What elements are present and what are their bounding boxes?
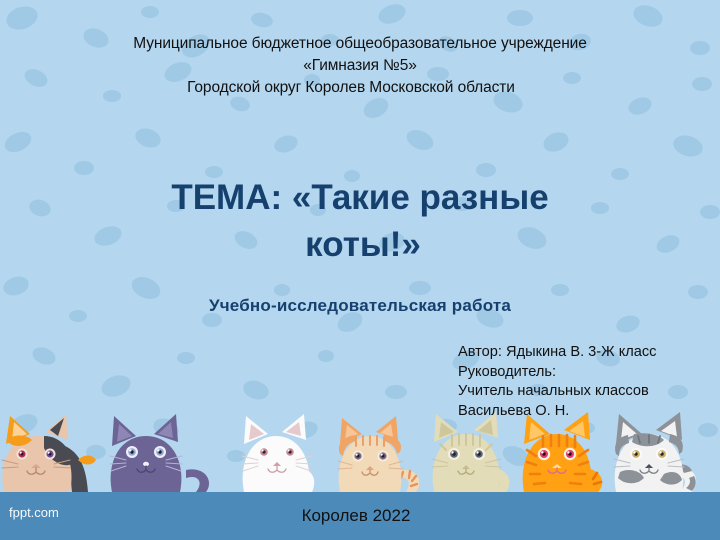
school-header: Муниципальное бюджетное общеобразователь… <box>0 33 720 99</box>
orange-tiger-cat <box>523 412 603 492</box>
white-cat <box>242 414 314 492</box>
gray-white-cat <box>614 412 696 492</box>
fppt-watermark: fppt.com <box>9 505 59 520</box>
header-line-gymnasium: «Гимназия №5» <box>0 55 720 77</box>
subtitle-work-type: Учебно-исследовательская работа <box>0 296 720 316</box>
header-line-city: Городской округ Королев Московской облас… <box>0 77 720 99</box>
presentation-title-slide: Муниципальное бюджетное общеобразователь… <box>0 0 720 540</box>
title-line-1: ТЕМА: «Такие разные <box>0 175 720 222</box>
author-credits: Автор: Ядыкина В. 3-Ж класс Руководитель… <box>458 343 720 422</box>
header-line-institution: Муниципальное бюджетное общеобразователь… <box>0 33 720 55</box>
page-title: ТЕМА: «Такие разные коты!» <box>0 175 720 268</box>
title-line-2: коты!» <box>0 222 720 269</box>
beige-cat <box>432 412 509 492</box>
orange-tabby-cat <box>338 416 419 492</box>
footer-bar: Королев 2022 fppt.com <box>0 492 720 540</box>
supervisor-role: Учитель начальных классов <box>458 382 720 402</box>
purple-cat <box>110 414 209 492</box>
cats-illustration-strip <box>0 410 720 492</box>
supervisor-label: Руководитель: <box>458 363 720 383</box>
author-name: Автор: Ядыкина В. 3-Ж класс <box>458 343 720 363</box>
footer-city-year: Королев 2022 <box>0 492 720 540</box>
supervisor-name: Васильева О. Н. <box>458 402 720 422</box>
calico-cat <box>2 414 96 492</box>
